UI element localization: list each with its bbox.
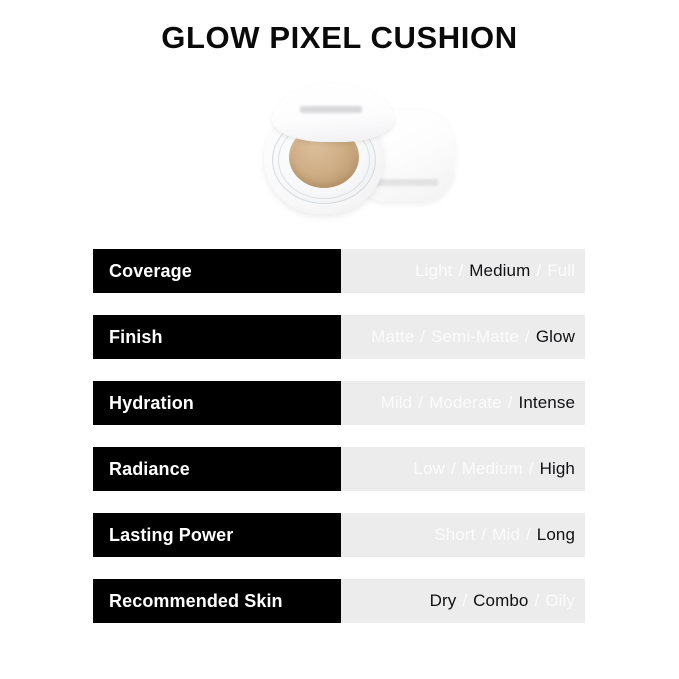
- spec-option-separator: /: [530, 261, 547, 281]
- spec-option: Mid: [492, 525, 520, 545]
- spec-option: Mild: [381, 393, 413, 413]
- spec-option: Medium: [462, 459, 523, 479]
- spec-option: Semi-Matte: [431, 327, 519, 347]
- brand-logo-mark-back: [370, 179, 438, 186]
- page-title: GLOW PIXEL CUSHION: [0, 18, 679, 58]
- spec-row: CoverageLight/Medium/Full: [93, 249, 585, 293]
- spec-option: Light: [415, 261, 452, 281]
- spec-option-separator: /: [445, 459, 462, 479]
- product-image: [252, 76, 467, 216]
- spec-row: FinishMatte/Semi-Matte/Glow: [93, 315, 585, 359]
- spec-option-separator: /: [414, 327, 431, 347]
- spec-table: CoverageLight/Medium/FullFinishMatte/Sem…: [93, 249, 585, 623]
- spec-option: Oily: [545, 591, 575, 611]
- spec-label: Recommended Skin: [93, 579, 341, 623]
- compact-lid-top-icon: [272, 84, 394, 142]
- spec-values: Low/Medium/High: [341, 447, 585, 491]
- product-spec-page: GLOW PIXEL CUSHION CoverageLight/Medium/…: [0, 0, 679, 679]
- spec-row: HydrationMild/Moderate/Intense: [93, 381, 585, 425]
- spec-option-separator: /: [452, 261, 469, 281]
- spec-option-separator: /: [502, 393, 519, 413]
- spec-option-separator: /: [520, 525, 537, 545]
- spec-option: Short: [434, 525, 475, 545]
- spec-option-selected: Combo: [473, 591, 528, 611]
- spec-row: Lasting PowerShort/Mid/Long: [93, 513, 585, 557]
- spec-option-selected: Medium: [469, 261, 530, 281]
- spec-option: Full: [547, 261, 575, 281]
- spec-label: Lasting Power: [93, 513, 341, 557]
- spec-option-selected: High: [540, 459, 575, 479]
- spec-row: Recommended SkinDry/Combo/Oily: [93, 579, 585, 623]
- spec-values: Light/Medium/Full: [341, 249, 585, 293]
- spec-label: Coverage: [93, 249, 341, 293]
- spec-values: Mild/Moderate/Intense: [341, 381, 585, 425]
- spec-option-selected: Dry: [430, 591, 457, 611]
- spec-label: Finish: [93, 315, 341, 359]
- spec-values: Matte/Semi-Matte/Glow: [341, 315, 585, 359]
- spec-option-separator: /: [523, 459, 540, 479]
- spec-values: Dry/Combo/Oily: [341, 579, 585, 623]
- spec-option: Moderate: [429, 393, 502, 413]
- spec-option: Matte: [371, 327, 414, 347]
- spec-option-selected: Glow: [536, 327, 575, 347]
- spec-values: Short/Mid/Long: [341, 513, 585, 557]
- spec-option-separator: /: [475, 525, 492, 545]
- spec-option-separator: /: [456, 591, 473, 611]
- spec-row: RadianceLow/Medium/High: [93, 447, 585, 491]
- spec-option-separator: /: [412, 393, 429, 413]
- spec-label: Radiance: [93, 447, 341, 491]
- spec-option: Low: [413, 459, 445, 479]
- spec-option-selected: Intense: [519, 393, 575, 413]
- spec-label: Hydration: [93, 381, 341, 425]
- spec-option-separator: /: [519, 327, 536, 347]
- spec-option-selected: Long: [537, 525, 575, 545]
- spec-option-separator: /: [528, 591, 545, 611]
- brand-logo-mark-top: [300, 106, 362, 113]
